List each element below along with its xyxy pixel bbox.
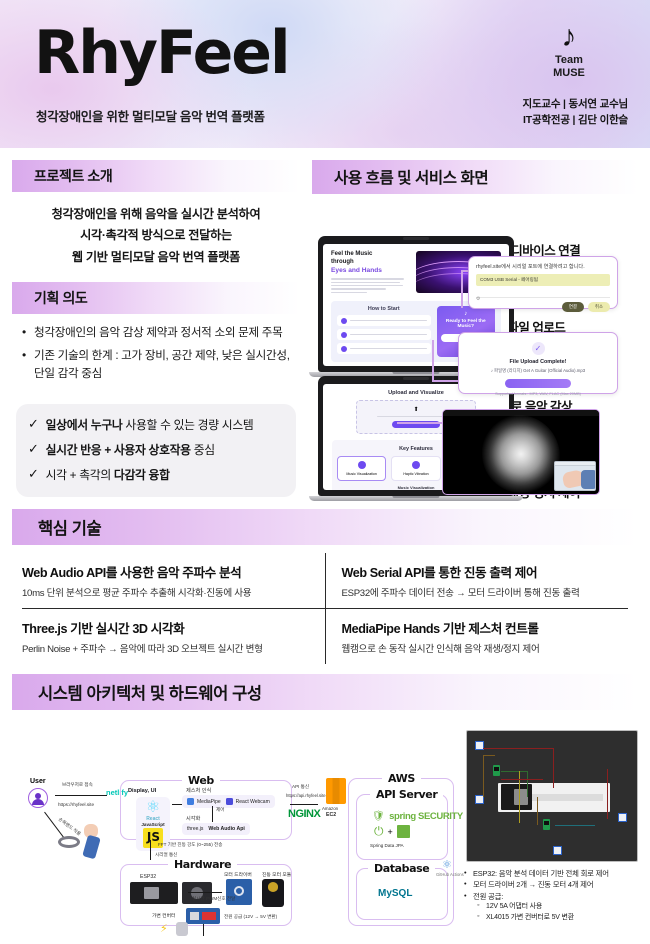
api-comm-label: API 통신 [292,784,309,790]
music-note-icon: ♪ [441,311,491,317]
web-title: Web [182,774,220,787]
gesture-label: 제스처 인식 [186,787,211,794]
list-item [337,315,431,326]
list-item [337,329,431,340]
cta-title: Ready to Feel the Music? [441,319,491,329]
ec2-label: EC2 [326,812,336,818]
check-rest-2: 중심 [191,443,215,457]
tech-desc-4: 웹캠으로 손 동작 실시간 인식해 음악 재생/정지 제어 [342,641,629,655]
list-item: 기존 기술의 한계 : 고가 장비, 공간 제약, 낮은 실시간성, 단일 감각… [22,347,294,384]
nginx-logo: NGINX [288,808,320,820]
list-item: ESP32: 음악 분석 데이터 기반 전체 회로 제어 [464,868,646,879]
arrow [188,892,222,893]
gesture-stack-chips: MediaPipe React Webcam [182,795,275,808]
feature-card-2: Haptic Vibration [391,456,440,481]
intro-text: 청각장애인을 위해 음악을 실시간 분석하여 시각·촉각적 방식으로 전달하는 … [12,192,300,282]
arrow [203,924,204,936]
check-icon: ✓ [28,441,39,458]
arrow [172,804,182,805]
breadboard-photo [466,730,638,862]
motor-pad [618,813,627,822]
tech-desc-2: ESP32에 주파수 데이터 전송 → 모터 드라이버 통해 진동 출력 [342,585,629,599]
tech-desc-3: Perlin Noise + 주파수 → 음악에 따라 3D 오브젝트 실시간 … [22,641,311,655]
usb-connect-button[interactable]: 연결 [562,302,584,312]
list-item: 모터 드라이버 2개 → 진동 모터 4개 제어 [464,879,646,890]
check-tail-3: 다감각 융합 [114,468,170,482]
amazon-label: Amazon [322,806,338,811]
hardware-notes: ESP32: 음악 분석 데이터 기반 전체 회로 제어 모터 드라이버 2개 … [464,868,646,924]
feature-icon [412,461,420,469]
check-icon: ✓ [28,466,39,483]
user-label: User [30,778,46,785]
github-actions-icon: ⚛ [442,858,452,871]
arrow [55,795,107,796]
react-webcam-icon [226,798,233,805]
arrow [212,806,213,822]
upload-new-file-button[interactable] [505,379,570,388]
list-item: 청각장애인의 음악 감상 제약과 정서적 소외 문제 주목 [22,324,294,343]
tech-title-4: MediaPipe Hands 기반 제스처 컨트롤 [342,618,629,637]
hero-title-3: Eyes and Hands [331,267,409,276]
hardware-title: Hardware [168,858,237,871]
hero-title-1: Feel the Music [331,251,409,259]
esp32-label: ESP32 [140,874,156,880]
tech-title-3: Three.js 기반 실시간 3D 시각화 [22,618,311,637]
section-arch-banner: 시스템 아키텍처 및 하드웨어 구성 [12,674,638,710]
page-subtitle: 청각장애인을 위한 멀티모달 음악 번역 플랫폼 [36,106,265,125]
intro-line-2: 시각·촉각적 방식으로 전달하는 [18,225,294,246]
buck-converter [186,908,220,924]
intro-line-3: 웹 기반 멀티모달 음악 번역 플랫폼 [18,247,294,268]
left-column: 프로젝트 소개 청각장애인을 위해 음악을 실시간 분석하여 시각·촉각적 방식… [12,160,300,505]
architecture-diagram: User 브라우저로 접속 https://rhyfeel.site 손목밴드 … [0,716,650,944]
list-item [337,343,431,354]
purpose-bullet-list: 청각장애인의 음악 감상 제약과 정서적 소외 문제 주목 기존 기술의 한계 … [12,314,300,398]
core-tech-section: 핵심 기술 Web Audio API를 사용한 음악 주파수 분석 10ms … [0,509,650,668]
vib-motor-label: 진동 모터 모듈 [262,871,291,878]
list-item: ✓ 일상에서 누구나 사용할 수 있는 경량 시스템 [28,416,282,434]
feature-icon [358,461,366,469]
list-item: 전원 공급: [464,891,646,902]
wristband-illustration [58,836,80,848]
usb-cancel-button[interactable]: 취소 [588,302,610,312]
purpose-highlight-card: ✓ 일상에서 누구나 사용할 수 있는 경량 시스템 ✓ 실시간 반응 + 사용… [16,404,296,497]
motor-driver-label: 모터 드라이버 [224,871,252,878]
gear-icon[interactable]: ⚙ [476,296,480,302]
advisor-line: 지도교수 | 동서연 교수님 [523,96,629,112]
howto-title: How to Start [337,306,431,312]
tech-title-1: Web Audio API를 사용한 음악 주파수 분석 [22,562,311,581]
check-bold-2: 실시간 반응 + 사용자 상호작용 [46,443,191,457]
power-bolt-icon: ⚡ [160,922,168,935]
tech-card-3: Three.js 기반 실시간 3D 시각화 Perlin Noise + 주파… [22,609,325,664]
mediapipe-icon [187,798,194,805]
poster-header: RhyFeel 청각장애인을 위한 멀티모달 음악 번역 플랫폼 ♪ Team … [0,0,650,148]
right-column: 사용 흐름 및 서비스 화면 1. USB로 디바이스 연결 2. 음악 파일 … [312,160,638,505]
upper-columns: 프로젝트 소개 청각장애인을 위해 음악을 실시간 분석하여 시각·촉각적 방식… [0,148,650,505]
mediapipe-label: MediaPipe [197,799,221,805]
section-purpose-banner: 기획 의도 [12,282,300,314]
connector-line [432,340,434,380]
threejs-label: three.js [187,826,203,832]
tech-card-4: MediaPipe Hands 기반 제스처 컨트롤 웹캠으로 손 동작 실시간… [326,609,629,664]
display-ui-label: Display, UI [128,788,156,794]
react-webcam-label: React Webcam [236,799,270,805]
section-flow-banner: 사용 흐름 및 서비스 화면 [312,160,638,194]
webcam-gesture-pip [554,461,596,491]
user-link-url: https://rhyfeel.site [58,802,94,807]
spring-security-label: spring SECURITY [389,811,463,822]
power-plug-icon [176,922,188,936]
3d-visualizer-object [482,415,560,493]
usb-device-option[interactable]: COM3 USB Serial - 페어링됨 [476,274,610,286]
spring-security-logo: 🛡 spring SECURITY [372,806,463,824]
vibration-motor-module [262,879,284,907]
driver-chip [543,819,550,830]
usb-dialog-question: rhyfeel.site에서 시리얼 포트에 연결하려고 합니다. [476,263,610,270]
database-title: Database [368,862,435,875]
api-url-label: https://api.rhyfeel.site [286,793,326,798]
spring-data-jpa-row: ⏻ + [374,824,410,839]
aws-title: AWS [382,772,421,785]
visualize-stack-chips: three.js Web Audio Api [182,823,250,835]
list-item: ✓ 실시간 반응 + 사용자 상호작용 중심 [28,441,282,459]
tech-card-1: Web Audio API를 사용한 음악 주파수 분석 10ms 단위 분석으… [22,553,325,608]
spring-data-jpa-label: Spring Data JPA [370,843,404,848]
control-label: 제어 [216,807,224,813]
javascript-label: JavaScript [136,822,170,827]
feature-label-2: Haptic Vibration [395,472,436,476]
list-item: 12V 5A 어댑터 사용 [464,902,646,913]
list-item: ✓ 시각 + 촉각의 다감각 융합 [28,466,282,484]
check-bold-1: 일상에서 누구나 [46,418,123,432]
driver-chip [493,765,500,776]
web-audio-api-label: Web Audio Api [208,826,244,832]
service-screens-showcase: 1. USB로 디바이스 연결 2. 음악 파일 업로드 3. 시각·촉각으로 … [312,200,638,505]
buck-label: 가변 컨버터 [152,912,175,919]
github-actions-label: GitHub Actions [436,872,464,877]
team-label: Team [534,54,604,67]
section-core-banner: 핵심 기술 [12,509,638,545]
fft-label: FFT 기반 진동 강도 (0~255) 전송 [158,842,223,848]
members-line: IT공학전공 | 김단 이한슬 [523,112,629,128]
page-title: RhyFeel [34,18,289,88]
check-icon: ✓ [28,416,39,433]
react-icon: ⚛ [136,800,170,816]
intro-line-1: 청각장애인을 위해 음악을 실시간 분석하여 [18,204,294,225]
api-server-title: API Server [370,788,443,801]
tech-card-2: Web Serial API를 통한 진동 출력 제어 ESP32에 주파수 데… [326,553,629,608]
visualize-label: 시각화 [186,815,200,822]
architecture-section: 시스템 아키텍처 및 하드웨어 구성 User 브라우저로 접속 https:/… [0,674,650,944]
power-label: 전원 공급 (12V → 5V 변환) [224,914,277,920]
user-link-top-label: 브라우저로 접속 [62,782,93,788]
hero-title-2: through [331,259,409,267]
section-intro-banner: 프로젝트 소개 [12,160,300,192]
tech-title-2: Web Serial API를 통한 진동 출력 제어 [342,562,629,581]
hand-illustration [84,824,98,858]
feature-card-1: Music Visualization [337,456,386,481]
uploaded-file-name: ♪ 파일명 (라디치) Get A Guitar (Official Audio… [467,368,609,374]
music-note-icon: ♪ [534,22,604,52]
upload-complete-dialog: ✓ File Upload Complete! ♪ 파일명 (라디치) Get … [458,332,618,394]
realtime-pwm-label: 실시간 PWM신호 전달 [192,896,235,902]
arrow [290,804,318,805]
check-rest-3: 시각 + 촉각의 [46,468,114,482]
mysql-label: MySQL [378,888,412,899]
mysql-logo: MySQL [378,888,412,899]
tech-desc-1: 10ms 단위 분석으로 평균 주파수 추출해 시각화·진동에 사용 [22,585,311,599]
connector-line [461,270,463,308]
supported-formats-note: Supported formats : MP3, WAV, FLAC (Max … [467,392,609,396]
team-logo: ♪ Team MUSE [534,22,604,79]
visualizer-screenshot [442,409,600,495]
upload-complete-title: File Upload Complete! [467,359,609,365]
team-name-label: MUSE [534,67,604,80]
user-avatar-icon [28,788,48,808]
amazon-ec2-icon [326,778,346,804]
credits: 지도교수 | 동서연 교수님 IT공학전공 | 김단 이한슬 [523,96,629,129]
feature-label-1: Music Visualization [341,472,382,476]
list-item: XL4015 가변 컨버터로 5V 변환 [464,913,646,924]
check-rest-1: 사용할 수 있는 경량 시스템 [122,418,253,432]
motor-pad [553,846,562,855]
arrow [150,840,151,860]
check-circle-icon: ✓ [532,342,545,355]
usb-connect-dialog[interactable]: rhyfeel.site에서 시리얼 포트에 연결하려고 합니다. COM3 U… [468,256,618,309]
esp32-board [130,882,178,904]
